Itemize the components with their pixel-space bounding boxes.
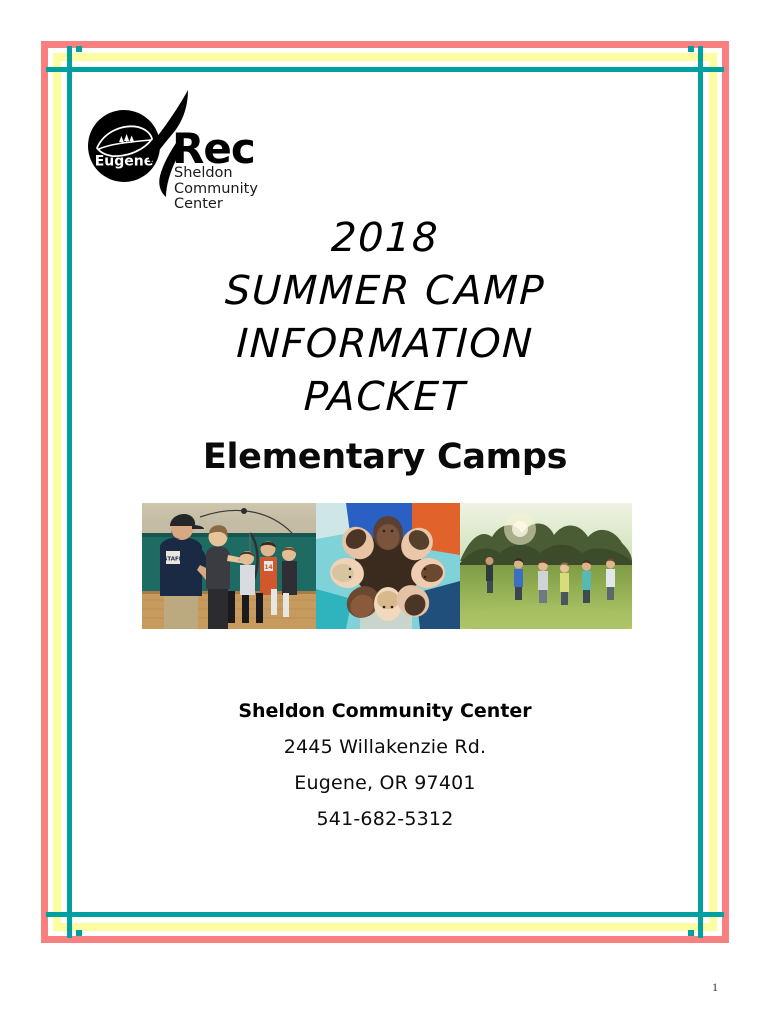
photo-archery-lesson: STAFF [142, 503, 316, 629]
logo-sub-line-2: Community [174, 182, 258, 198]
border-salmon-right [722, 41, 729, 943]
page-title: 2018 SUMMER CAMP INFORMATION PACKET [60, 212, 710, 424]
contact-phone: 541-682-5312 [60, 808, 710, 830]
border-weave-dot [688, 46, 694, 52]
title-line-year: 2018 [59, 212, 711, 265]
logo-sub-lines: Sheldon Community Center [174, 166, 258, 213]
eugene-rec-logo: Eugene Rec Sheldon Community Center [88, 88, 268, 216]
border-weave-stub [67, 917, 72, 938]
border-weave-stub [703, 67, 724, 72]
border-yellow-bottom [53, 923, 717, 931]
contact-center-name: Sheldon Community Center [60, 700, 710, 722]
border-teal-top [67, 67, 703, 72]
border-teal-bottom [67, 912, 703, 917]
border-weave-stub [698, 46, 703, 67]
title-line-information: INFORMATION [59, 318, 711, 371]
border-weave-stub [703, 912, 724, 917]
contact-street-address: 2445 Willakenzie Rd. [60, 736, 710, 758]
border-weave-stub [698, 917, 703, 938]
title-line-summer-camp: SUMMER CAMP [59, 265, 711, 318]
contact-city-state-zip: Eugene, OR 97401 [60, 772, 710, 794]
svg-text:STAFF: STAFF [163, 557, 182, 563]
logo-sub-line-3: Center [174, 197, 258, 213]
border-weave-stub [46, 912, 67, 917]
rec-wordmark: Rec [172, 128, 255, 170]
border-salmon-left [41, 41, 48, 943]
logo-sub-line-1: Sheldon [174, 166, 258, 182]
border-weave-dot [76, 46, 82, 52]
page-number: 1 [705, 980, 725, 995]
title-line-packet: PACKET [59, 371, 711, 424]
contact-info: Sheldon Community Center 2445 Willakenzi… [60, 700, 710, 844]
photo-strip: STAFF [142, 503, 632, 629]
page-subtitle: Elementary Camps [60, 437, 710, 477]
border-weave-dot [76, 930, 82, 936]
border-weave-stub [67, 46, 72, 67]
border-weave-dot [688, 930, 694, 936]
border-yellow-right [709, 53, 717, 931]
border-salmon-bottom [41, 936, 729, 943]
photo-children-running [460, 503, 632, 629]
border-salmon-top [41, 41, 729, 48]
photo-kids-circle [316, 503, 460, 629]
border-weave-stub [46, 67, 67, 72]
border-yellow-top [53, 53, 717, 61]
svg-text:14: 14 [264, 564, 272, 571]
